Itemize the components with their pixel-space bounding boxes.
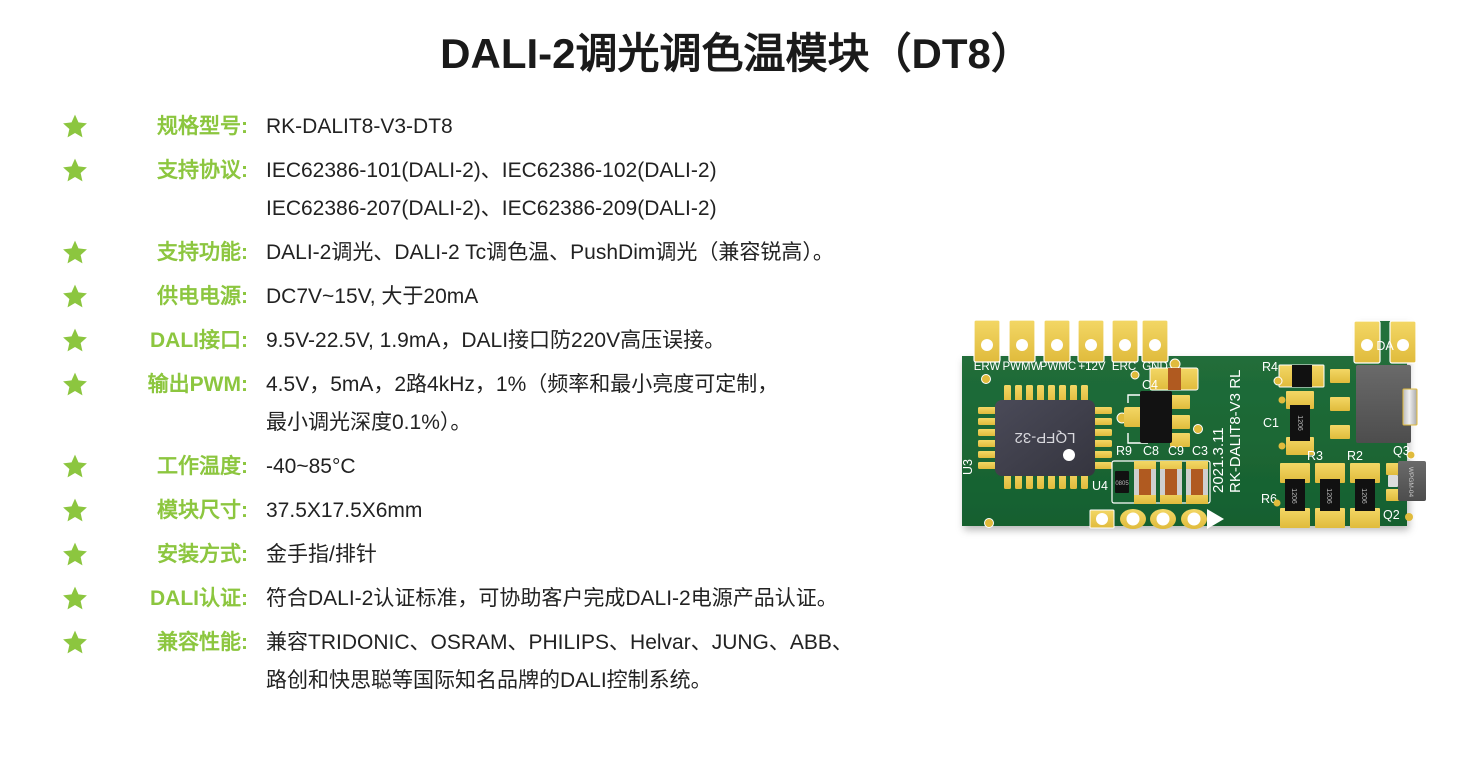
star-icon [62,453,88,479]
spec-value: RK-DALIT8-V3-DT8 [266,108,962,146]
spec-value-line: 符合DALI-2认证标准，可协助客户完成DALI-2电源产品认证。 [266,580,962,618]
pcb-board-date: 2021.3.11 [1210,427,1227,493]
star-icon [62,113,88,139]
pcb-ref-c9: C9 [1168,444,1184,458]
pcb-ref-r3: R3 [1307,449,1323,463]
pcb-edge-connector-pads [974,320,1168,362]
spec-label: 工作温度: [98,448,248,486]
spec-label: 规格型号: [98,108,248,146]
pcb-ref-r2: R2 [1347,449,1363,463]
star-icon [62,497,88,523]
star-icon [62,371,88,397]
pcb-product-image: ERW PWMW PWMC +12V ERC GND DA [952,303,1452,551]
spec-label: 支持协议: [98,152,248,190]
pin-label-erc: ERC [1112,361,1136,373]
star-icon [62,239,88,265]
pcb-c1-code: 1206 [1296,415,1303,431]
pin-label-erw: ERW [974,361,1001,373]
spec-value: 符合DALI-2认证标准，可协助客户完成DALI-2电源产品认证。 [266,580,962,618]
star-icon [62,585,88,611]
pcb-da-label: DA [1376,339,1394,353]
pcb-ref-q2: Q2 [1383,508,1400,522]
spec-value-line: 最小调光深度0.1%）。 [266,404,962,442]
spec-value-line: 路创和快思聪等国际知名品牌的DALI控制系统。 [266,662,962,700]
spec-label: 兼容性能: [98,624,248,662]
spec-value: 9.5V-22.5V, 1.9mA，DALI接口防220V高压误接。 [266,322,962,360]
pcb-ref-u4: U4 [1092,479,1108,493]
spec-value-line: 4.5V，5mA，2路4kHz，1%（频率和最小亮度可定制， [266,366,962,404]
star-icon [62,629,88,655]
spec-value-line: DC7V~15V, 大于20mA [266,278,962,316]
pcb-ref-c3: C3 [1192,444,1208,458]
pcb-chip-marking: LQFP-32 [1015,429,1076,446]
spec-row: 支持功能:DALI-2调光、DALI-2 Tc调色温、PushDim调光（兼容锐… [62,234,962,272]
spec-value-line: 37.5X17.5X6mm [266,492,962,530]
spec-label: DALI认证: [98,580,248,618]
spec-value: 4.5V，5mA，2路4kHz，1%（频率和最小亮度可定制，最小调光深度0.1%… [266,366,962,442]
spec-label: 输出PWM: [98,366,248,404]
spec-value: 兼容TRIDONIC、OSRAM、PHILIPS、Helvar、JUNG、ABB… [266,624,962,700]
pcb-ref-r4: R4 [1262,360,1278,374]
pcb-r2-code: 1206 [1360,488,1367,504]
pcb-q2-code: WPGM-04 [1407,467,1414,498]
spec-row: DALI接口:9.5V-22.5V, 1.9mA，DALI接口防220V高压误接… [62,322,962,360]
spec-value: IEC62386-101(DALI-2)、IEC62386-102(DALI-2… [266,152,962,228]
spec-label: DALI接口: [98,322,248,360]
spec-row: 供电电源:DC7V~15V, 大于20mA [62,278,962,316]
spec-list: 规格型号:RK-DALIT8-V3-DT8支持协议:IEC62386-101(D… [62,108,962,706]
pcb-component-c4: C4 [1142,368,1198,392]
star-icon [62,283,88,309]
pcb-ref-c1: C1 [1263,416,1279,430]
pcb-ref-c4: C4 [1142,378,1158,392]
spec-label: 供电电源: [98,278,248,316]
spec-value: DC7V~15V, 大于20mA [266,278,962,316]
star-icon [62,157,88,183]
spec-value-line: -40~85°C [266,448,962,486]
pin-label-12v: +12V [1078,361,1106,373]
spec-value-line: IEC62386-101(DALI-2)、IEC62386-102(DALI-2… [266,152,962,190]
spec-value: -40~85°C [266,448,962,486]
spec-value-line: IEC62386-207(DALI-2)、IEC62386-209(DALI-2… [266,190,962,228]
spec-row: 安装方式:金手指/排针 [62,536,962,574]
pcb-board-name: RK-DALIT8-V3 RL [1227,370,1244,493]
spec-row: 输出PWM:4.5V，5mA，2路4kHz，1%（频率和最小亮度可定制，最小调光… [62,366,962,442]
star-icon [62,541,88,567]
spec-value: 37.5X17.5X6mm [266,492,962,530]
pcb-ref-c8: C8 [1143,444,1159,458]
pcb-r6-code: 1206 [1290,488,1297,504]
spec-value: 金手指/排针 [266,536,962,574]
pcb-resistor-bank: 1206 1206 1206 [1274,463,1381,528]
spec-label: 安装方式: [98,536,248,574]
page-title: DALI-2调光调色温模块（DT8） [0,20,1473,81]
spec-row: 支持协议:IEC62386-101(DALI-2)、IEC62386-102(D… [62,152,962,228]
spec-row: DALI认证:符合DALI-2认证标准，可协助客户完成DALI-2电源产品认证。 [62,580,962,618]
spec-row: 兼容性能:兼容TRIDONIC、OSRAM、PHILIPS、Helvar、JUN… [62,624,962,700]
pcb-r3-code: 1206 [1325,488,1332,504]
spec-value-line: RK-DALIT8-V3-DT8 [266,108,962,146]
spec-value-line: 兼容TRIDONIC、OSRAM、PHILIPS、Helvar、JUNG、ABB… [266,624,962,662]
pcb-mid-pads [1330,369,1350,439]
spec-value-line: DALI-2调光、DALI-2 Tc调色温、PushDim调光（兼容锐高）。 [266,234,962,272]
pcb-resistor-code-0805: 0805 [1115,481,1129,487]
pcb-ref-r9: R9 [1116,444,1132,458]
spec-value-line: 金手指/排针 [266,536,962,574]
spec-row: 规格型号:RK-DALIT8-V3-DT8 [62,108,962,146]
spec-label: 模块尺寸: [98,492,248,530]
spec-row: 工作温度:-40~85°C [62,448,962,486]
spec-label: 支持功能: [98,234,248,272]
pin-label-pwmw: PWMW [1003,361,1042,373]
spec-value-line: 9.5V-22.5V, 1.9mA，DALI接口防220V高压误接。 [266,322,962,360]
pin-label-pwmc: PWMC [1040,361,1076,373]
pcb-ref-u3: U3 [961,459,975,475]
spec-row: 模块尺寸:37.5X17.5X6mm [62,492,962,530]
star-icon [62,327,88,353]
spec-value: DALI-2调光、DALI-2 Tc调色温、PushDim调光（兼容锐高）。 [266,234,962,272]
